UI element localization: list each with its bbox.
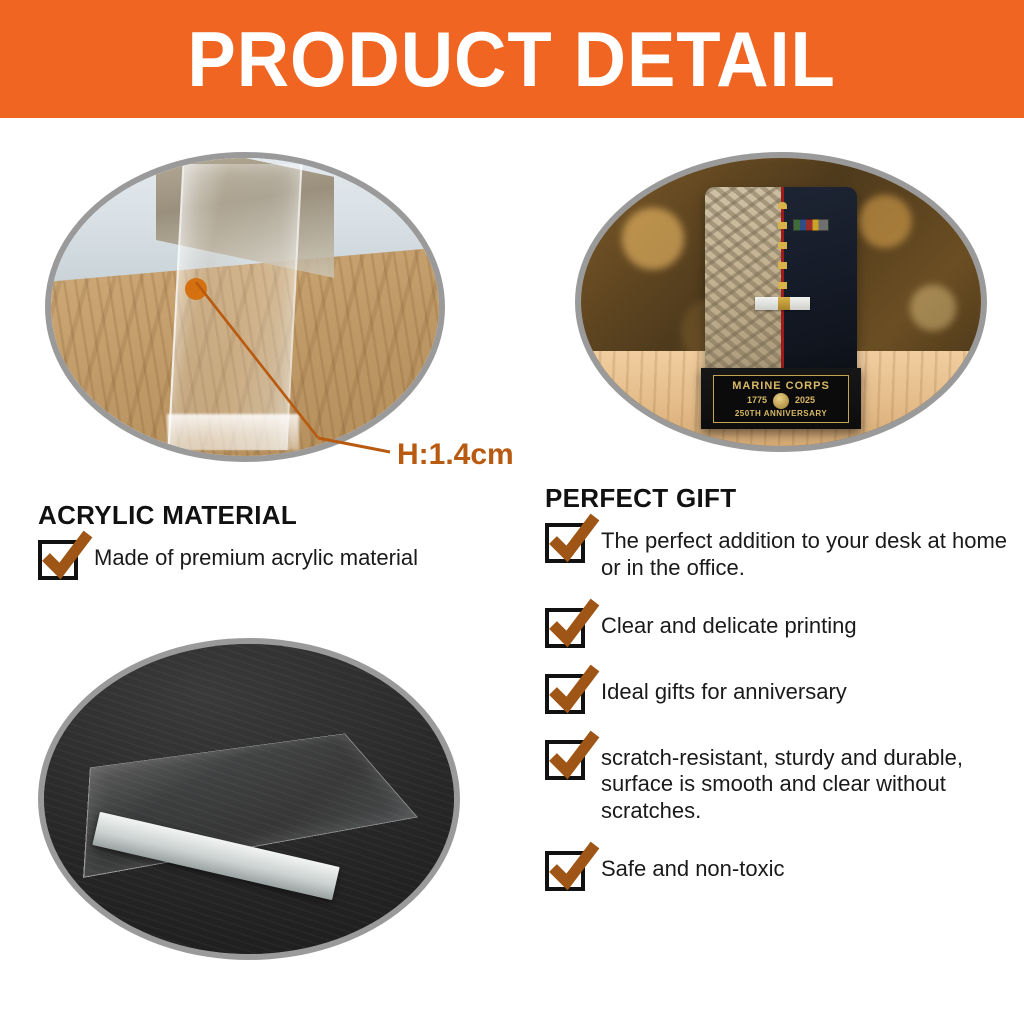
dress-blues-half — [781, 187, 857, 377]
acrylic-edge-scene — [51, 158, 439, 456]
plaque-anniversary-text: 250TH ANNIVERSARY — [735, 410, 827, 418]
list-item-label: Made of premium acrylic material — [94, 540, 418, 572]
checkmark-icon — [547, 513, 601, 567]
section-title-acrylic-material: ACRYLIC MATERIAL — [38, 500, 297, 531]
list-item: Clear and delicate printing — [545, 608, 1010, 648]
uniform-silhouette — [705, 187, 857, 377]
checkbox-checked-icon — [545, 851, 585, 891]
list-item: The perfect addition to your desk at hom… — [545, 523, 1010, 582]
list-item: scratch-resistant, sturdy and durable, s… — [545, 740, 1010, 825]
ribbon-rack-icon — [793, 219, 828, 231]
list-item-label: Clear and delicate printing — [601, 608, 857, 640]
belt-buckle-icon — [778, 297, 790, 310]
list-item: Safe and non-toxic — [545, 851, 1010, 891]
checkbox-checked-icon — [38, 540, 78, 580]
checkmark-icon — [547, 841, 601, 895]
checkmark-icon — [547, 664, 601, 718]
gift-scene: MARINE CORPS 1775 2025 250TH ANNIVERSARY — [581, 158, 981, 446]
list-item-label: The perfect addition to your desk at hom… — [601, 523, 1010, 582]
plaque-years-row: 1775 2025 — [747, 393, 815, 409]
list-item-label: Ideal gifts for anniversary — [601, 674, 847, 706]
photo-acrylic-block-edge — [45, 152, 445, 462]
plaque-year-start: 1775 — [747, 396, 767, 405]
page-title: PRODUCT DETAIL — [188, 20, 836, 98]
checkbox-checked-icon — [545, 523, 585, 563]
checkmark-icon — [547, 598, 601, 652]
list-item-label: Safe and non-toxic — [601, 851, 784, 883]
engraved-plaque: MARINE CORPS 1775 2025 250TH ANNIVERSARY — [713, 375, 849, 423]
camouflage-utility-half — [705, 187, 781, 377]
checklist-acrylic-material: Made of premium acrylic material — [38, 540, 518, 602]
checkmark-icon — [40, 530, 94, 584]
section-title-perfect-gift: PERFECT GIFT — [545, 483, 736, 514]
photo-acrylic-slab — [38, 638, 460, 960]
checkbox-checked-icon — [545, 740, 585, 780]
list-item-label: scratch-resistant, sturdy and durable, s… — [601, 740, 1010, 825]
plaque-year-end: 2025 — [795, 396, 815, 405]
acrylic-block-body — [168, 164, 303, 450]
header-banner: PRODUCT DETAIL — [0, 0, 1024, 118]
list-item: Ideal gifts for anniversary — [545, 674, 1010, 714]
checkbox-checked-icon — [545, 674, 585, 714]
eagle-globe-anchor-icon — [773, 393, 789, 409]
checkbox-checked-icon — [545, 608, 585, 648]
photo-marine-corps-plaque: MARINE CORPS 1775 2025 250TH ANNIVERSARY — [575, 152, 987, 452]
checklist-perfect-gift: The perfect addition to your desk at hom… — [545, 523, 1010, 917]
acrylic-slab-scene — [44, 644, 454, 954]
list-item: Made of premium acrylic material — [38, 540, 518, 580]
plaque-title: MARINE CORPS — [732, 381, 830, 392]
checkmark-icon — [547, 730, 601, 784]
acrylic-base-highlight — [167, 414, 299, 450]
